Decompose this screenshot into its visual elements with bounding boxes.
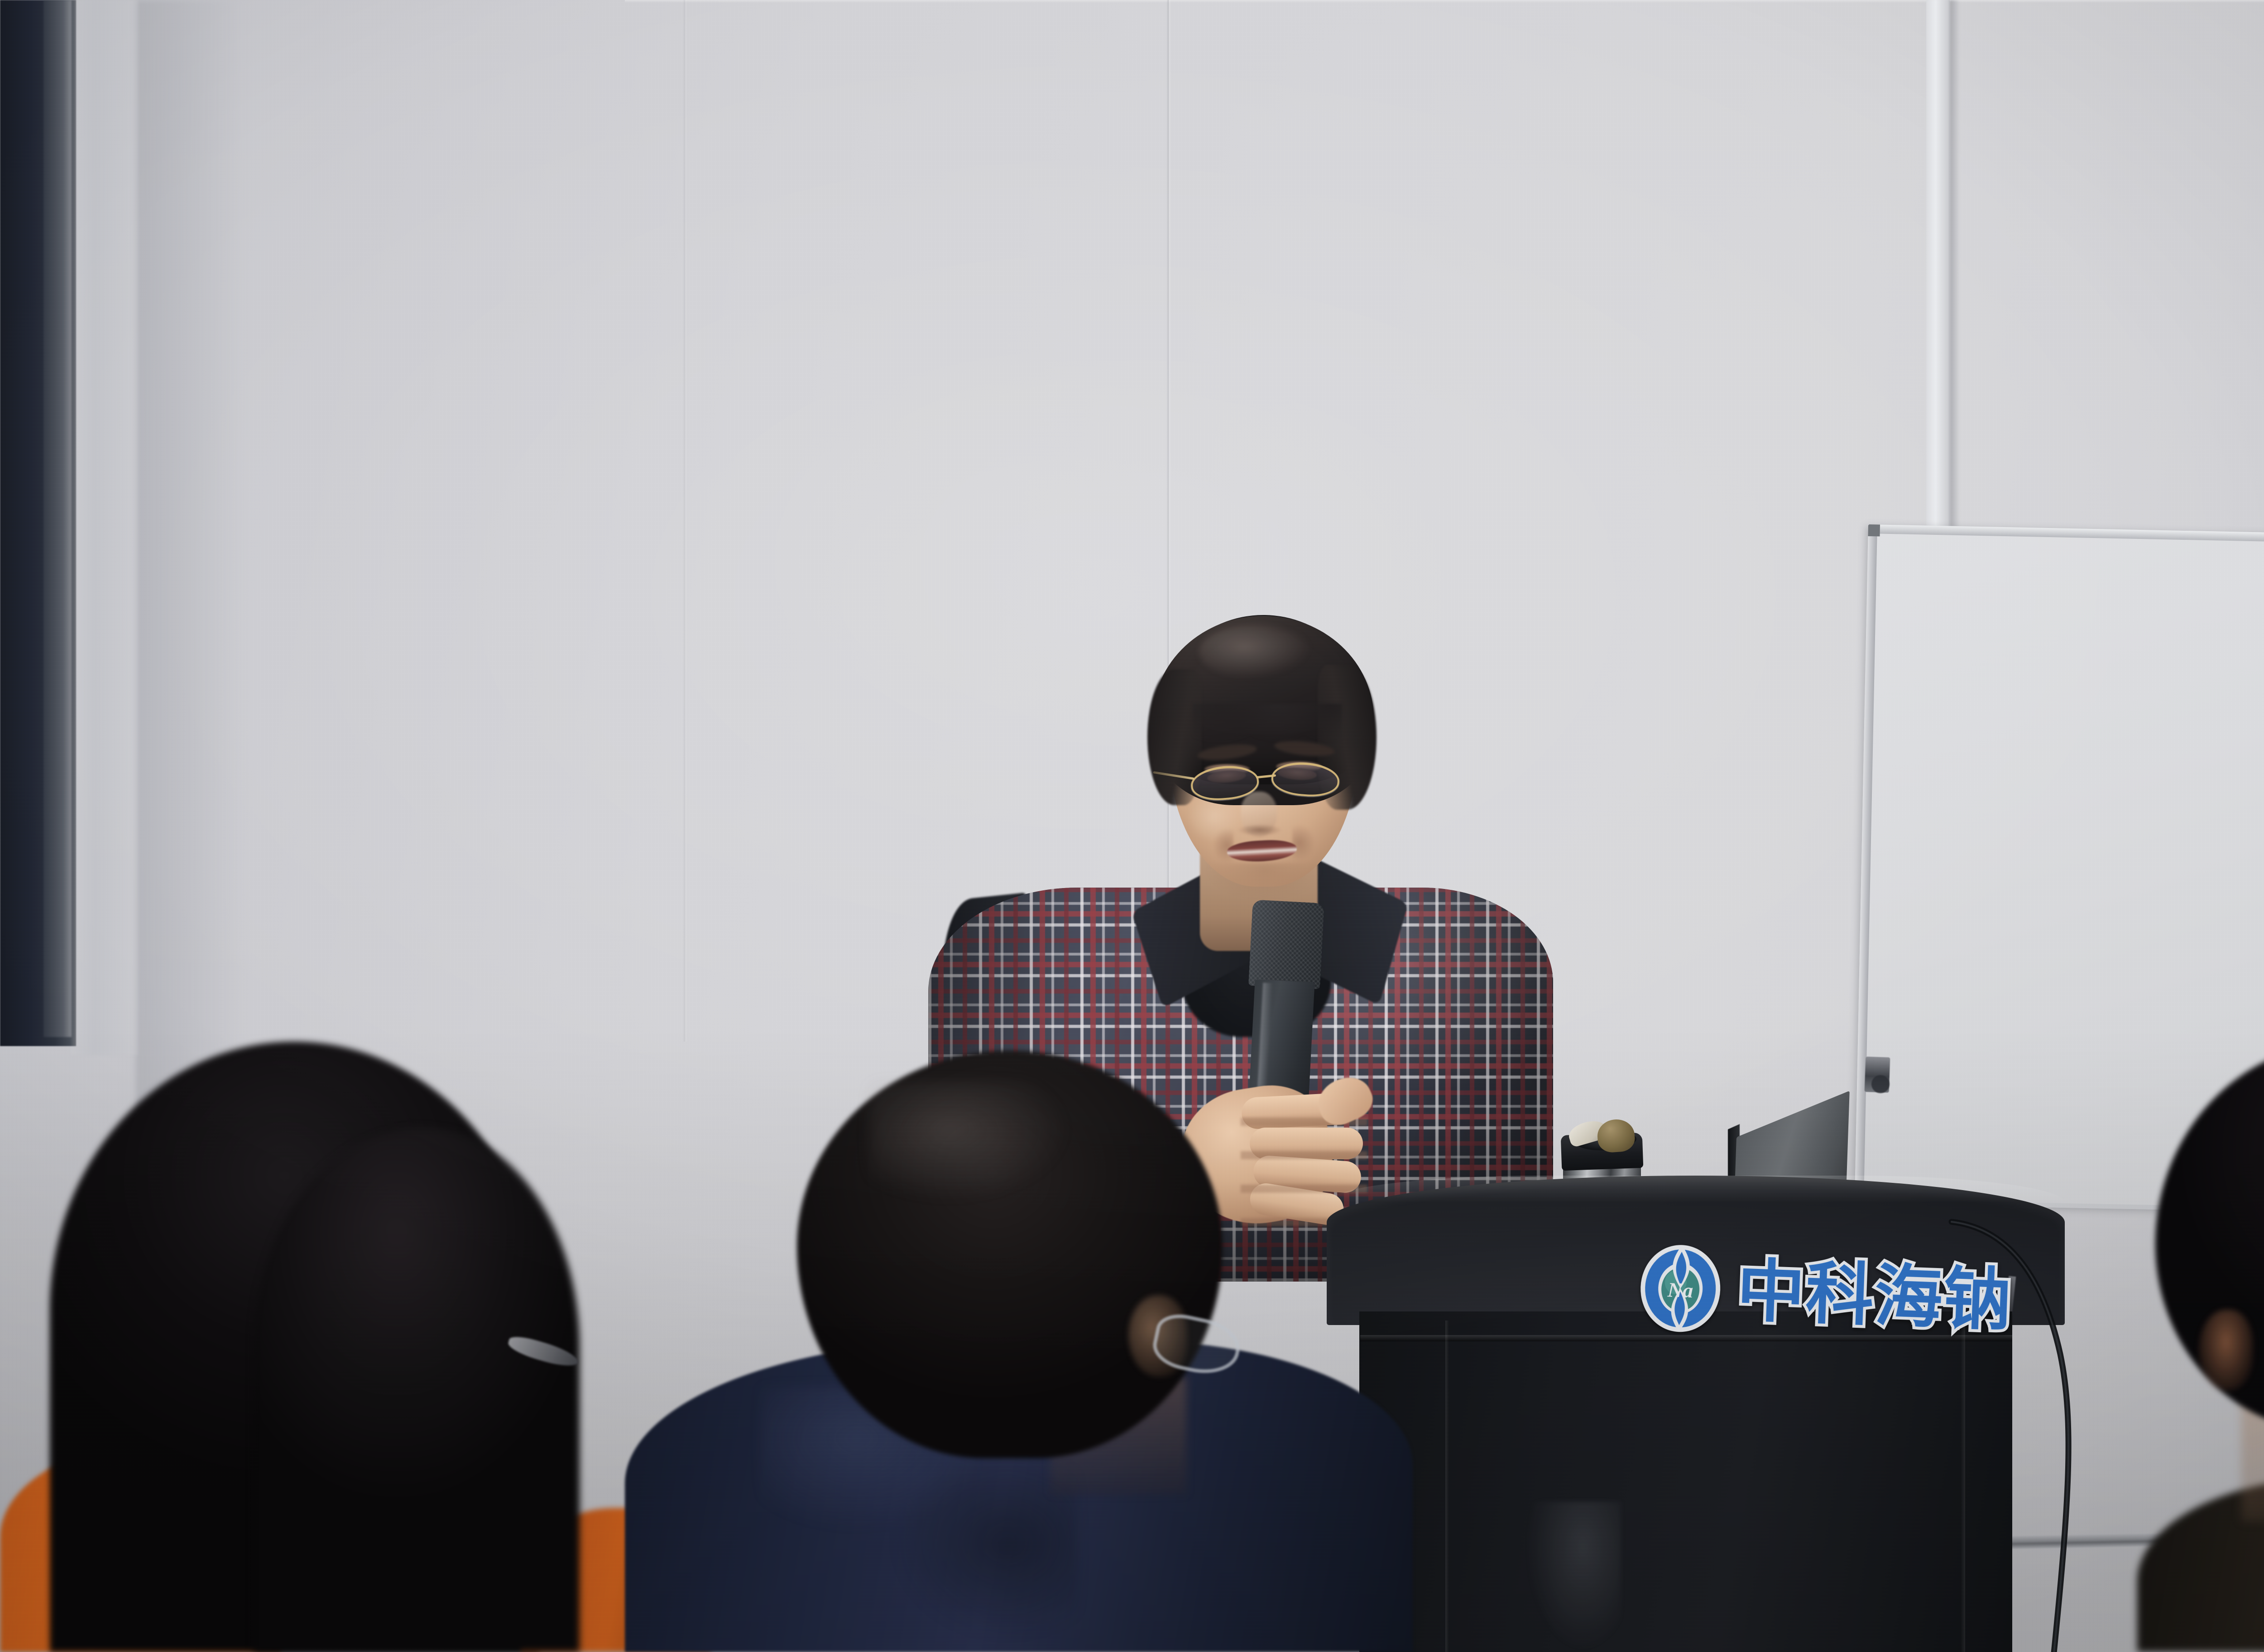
presenter-head <box>1145 615 1380 905</box>
presenter-hair-sheen <box>1199 625 1312 679</box>
photo-scene: Na 中科海钠 <box>0 0 2264 1652</box>
wall-top-band <box>625 0 2264 3</box>
smile-line-right <box>1292 824 1315 861</box>
microphone-grille <box>1248 899 1324 989</box>
svg-text:Na: Na <box>1667 1278 1693 1302</box>
lectern-panel-edge-left <box>1445 1321 1449 1652</box>
whiteboard-tray-knob <box>1871 1075 1890 1093</box>
wall-post <box>1926 0 1950 534</box>
smile-line-left <box>1213 828 1233 863</box>
door-jamb-highlight <box>71 0 139 1055</box>
whiteboard-surface <box>1864 533 2264 1212</box>
lectern-panel-edge-right <box>1961 1325 1965 1652</box>
eyeglass-lens-right <box>1271 760 1341 798</box>
whiteboard-corner-bracket <box>1868 524 1880 537</box>
wall-seam-secondary <box>683 0 687 1042</box>
na-circle-emblem: Na <box>1638 1242 1723 1335</box>
door-shadow-strip <box>136 0 245 1132</box>
door-frame <box>0 0 76 1046</box>
lectern-interior-shape <box>1526 1502 1621 1651</box>
lectern-base <box>1359 1311 2012 1652</box>
chin-shadow <box>1208 863 1321 898</box>
lectern-brand-text: 中科海钠 <box>1736 1257 2013 1335</box>
wall-post-shadow <box>1950 0 1960 534</box>
lectern-top-highlight <box>1327 1176 2065 1203</box>
nose-shadow <box>1238 824 1281 836</box>
lectern-brand-logo: Na 中科海钠 <box>1638 1242 2014 1345</box>
door-frame-inner <box>43 0 72 1037</box>
whiteboard <box>1855 524 2264 1216</box>
